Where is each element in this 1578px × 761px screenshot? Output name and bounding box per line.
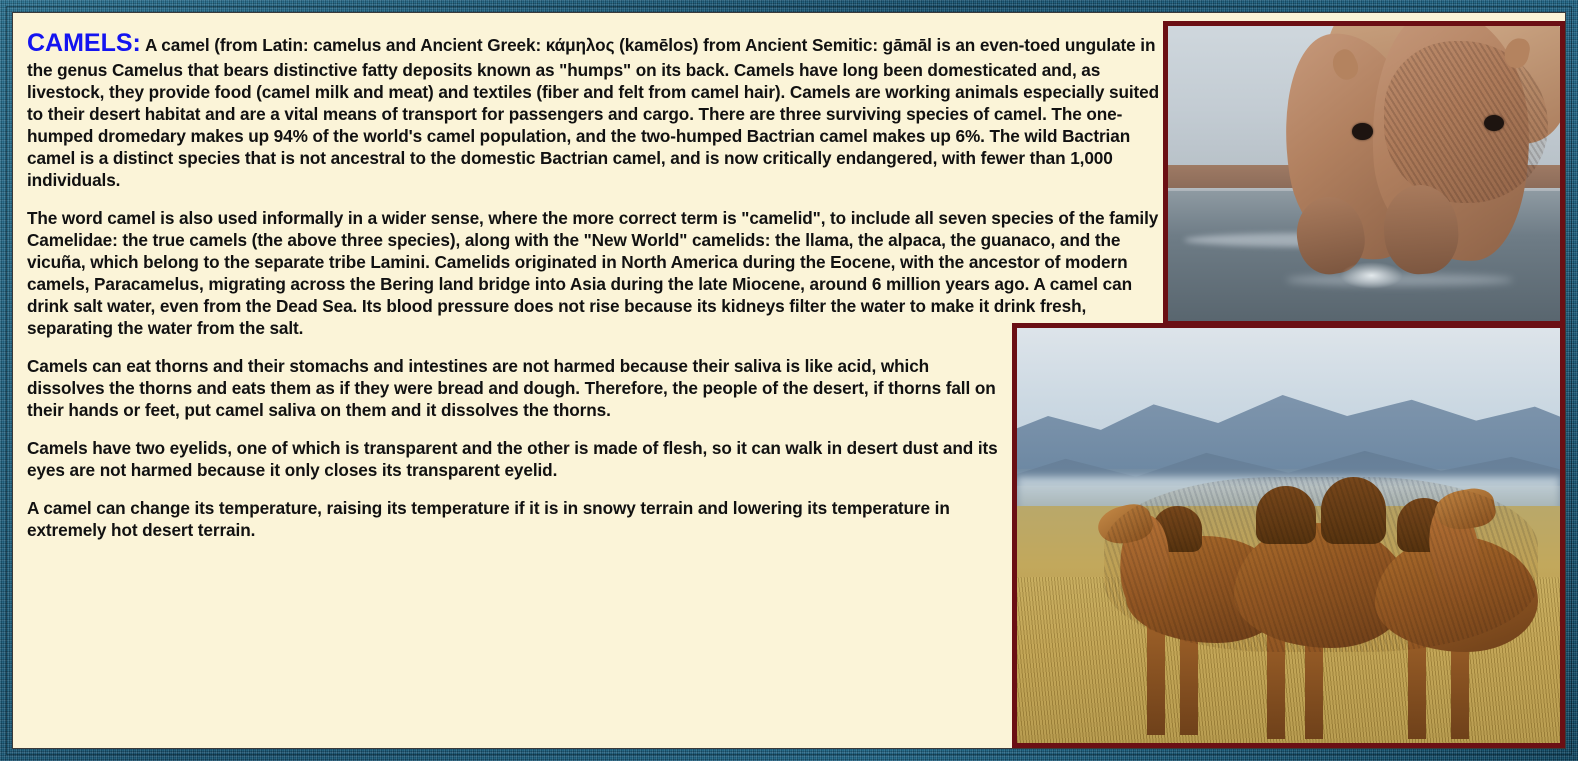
- water-splash: [1340, 262, 1403, 289]
- article-card: CAMELS: A camel (from Latin: camelus and…: [12, 12, 1566, 749]
- decorative-outer-frame: CAMELS: A camel (from Latin: camelus and…: [0, 0, 1578, 761]
- camel-fur-texture: [1104, 477, 1538, 651]
- paragraph-intro: CAMELS: A camel (from Latin: camelus and…: [27, 27, 1162, 191]
- paragraph-camelids: The word camel is also used informally i…: [27, 207, 1162, 339]
- camel-leg: [1408, 635, 1426, 739]
- paragraph-thorns: Camels can eat thorns and their stomachs…: [27, 355, 999, 421]
- camel-leg: [1147, 627, 1165, 735]
- camel-leg: [1180, 631, 1198, 735]
- camel-eye-left: [1352, 123, 1372, 140]
- paragraph-intro-body: A camel (from Latin: camelus and Ancient…: [27, 35, 1159, 190]
- photo-camels-drinking-water: [1163, 21, 1565, 326]
- headword-camels: CAMELS:: [27, 29, 141, 57]
- camel-eye-right: [1484, 115, 1504, 132]
- paragraph-eyelids: Camels have two eyelids, one of which is…: [27, 437, 999, 481]
- paragraph-temperature: A camel can change its temperature, rais…: [27, 497, 999, 541]
- photo-bactrian-camels-artwork: [1017, 328, 1560, 743]
- photo-camels-drinking-artwork: [1168, 26, 1560, 321]
- photo-bactrian-camels-steppe: [1012, 323, 1565, 748]
